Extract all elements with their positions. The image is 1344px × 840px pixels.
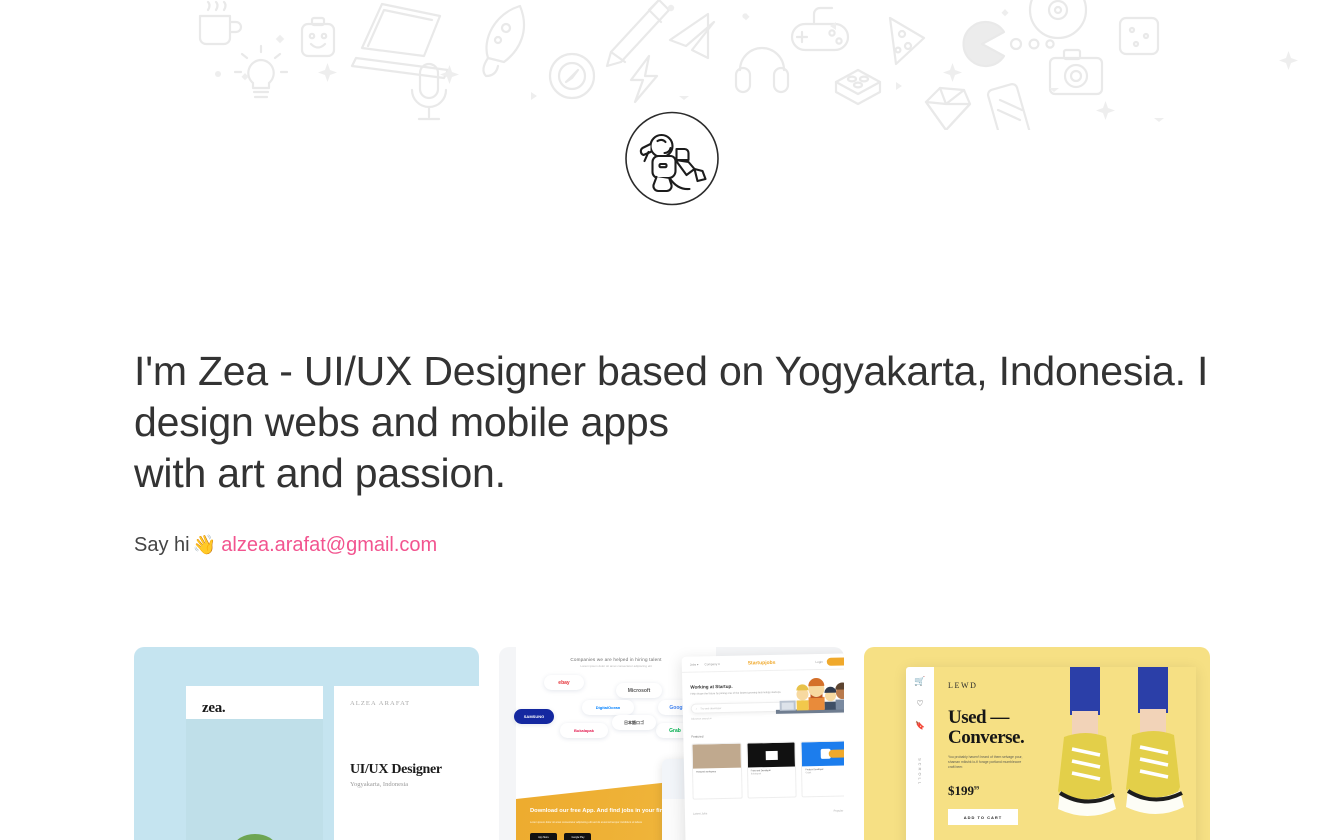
- pacman-icon: [964, 22, 1054, 66]
- compact-disc-icon: [1030, 0, 1086, 38]
- branding-left-panel: zea.: [186, 686, 323, 840]
- contact-line: Say hi👋alzea.arafat@gmail.com: [134, 533, 1210, 558]
- pencil-icon: [607, 0, 669, 66]
- lightning-bolt-icon: [631, 56, 657, 102]
- appstore-button[interactable]: App Store: [530, 833, 557, 840]
- job-title-0: Front-end Developer: [751, 770, 771, 772]
- plant-leaves: [234, 834, 276, 840]
- footer-left-label: Latest Jobs: [693, 811, 707, 815]
- smartphone-icon: [987, 83, 1031, 130]
- rocket-icon: [483, 6, 524, 76]
- bookmark-icon[interactable]: 🔖: [915, 722, 925, 730]
- camera-icon: [1050, 50, 1102, 94]
- job-card-1[interactable]: Front-end Developer Bukalapak: [746, 741, 797, 798]
- site-brand-logo: Startupjobs: [748, 659, 776, 666]
- project-card-ecommerce[interactable]: 🛒 ♡ 🔖 SCROLL LEWD Used — Converse. You p…: [864, 647, 1210, 840]
- startupjobs-site-mock: Jobs ▾ Company ▾ Startupjobs Login Worki…: [682, 653, 844, 840]
- waving-hand-icon: 👋: [193, 535, 217, 556]
- plant-photo: [186, 719, 323, 840]
- project-card-startupjobs[interactable]: Companies we are helped in hiring talent…: [499, 647, 844, 840]
- page-title: I'm Zea - UI/UX Designer based on Yogyak…: [134, 346, 1210, 499]
- gamepad-icon: [792, 8, 848, 50]
- search-placeholder: Try web developer: [700, 707, 721, 710]
- lightbulb-icon: [235, 46, 287, 97]
- project-card-branding[interactable]: zea. ALZEA ARAFAT UI/UX Designer Yogyaka…: [134, 647, 479, 840]
- googleplay-button[interactable]: Google Play: [564, 833, 591, 840]
- person-location: Yogyakarta, Indonesia: [334, 778, 479, 788]
- coffee-mug-icon: [200, 2, 241, 44]
- lego-head-icon: [302, 18, 334, 56]
- shoe-store-mock: 🛒 ♡ 🔖 SCROLL LEWD Used — Converse. You p…: [906, 667, 1196, 840]
- microphone-icon: [412, 64, 446, 119]
- job-card-list: Featured workspace Front-end Developer B…: [683, 735, 844, 800]
- contact-prefix: Say hi: [134, 534, 190, 556]
- product-description: You probably haven't heard of them selva…: [948, 755, 1028, 770]
- logo-pill-digitalocean: DigitalOcean: [582, 700, 634, 715]
- cookie-icon: [1120, 18, 1158, 54]
- logo-pill-extra: 日本語ロゴ: [612, 715, 656, 730]
- paper-plane-icon: [670, 14, 714, 58]
- laptop-icon: [352, 4, 448, 78]
- job-company-1: Gojek: [805, 772, 811, 774]
- hero-content: I'm Zea - UI/UX Designer based on Yogyak…: [134, 346, 1210, 558]
- brand-mark: zea.: [186, 686, 323, 717]
- logo-pill-samsung: SAMSUNG: [514, 709, 554, 724]
- headphones-icon: [736, 48, 788, 92]
- signup-button[interactable]: [827, 657, 844, 665]
- astronaut-logo[interactable]: [625, 111, 720, 206]
- logo-pill-bukalapak: Bukalapak: [560, 723, 608, 738]
- person-role: UI/UX Designer: [334, 707, 479, 778]
- sneakers-photo: [1046, 667, 1196, 840]
- job-title-1: Product Developer: [805, 769, 823, 771]
- pizza-slice-icon: [890, 18, 924, 64]
- project-cards: zea. ALZEA ARAFAT UI/UX Designer Yogyaka…: [134, 647, 1210, 840]
- scroll-label: SCROLL: [918, 758, 923, 786]
- job-company-0: Bukalapak: [751, 773, 761, 775]
- portfolio-page: I'm Zea - UI/UX Designer based on Yogyak…: [0, 0, 1344, 840]
- logo-pill-microsoft: Microsoft: [616, 683, 662, 698]
- cart-icon[interactable]: 🛒: [914, 677, 925, 686]
- see-more-button[interactable]: [829, 749, 844, 757]
- heart-icon[interactable]: ♡: [916, 700, 923, 708]
- logo-pill-ebay: ebay: [544, 675, 584, 690]
- branding-right-panel: ALZEA ARAFAT UI/UX Designer Yogyakarta, …: [334, 686, 479, 840]
- job-card-featured[interactable]: Featured workspace: [691, 743, 742, 800]
- person-name: ALZEA ARAFAT: [334, 686, 479, 707]
- add-to-cart-button[interactable]: ADD TO CART: [948, 809, 1018, 825]
- sidebar-rail: 🛒 ♡ 🔖 SCROLL: [906, 667, 934, 840]
- footer-right-label: Popular Jobs: [834, 808, 844, 812]
- decorative-specks: [215, 5, 1298, 130]
- email-link[interactable]: alzea.arafat@gmail.com: [221, 534, 437, 556]
- team-illustration: [775, 675, 844, 719]
- compass-icon: [550, 54, 594, 98]
- diamond-icon: [926, 88, 970, 130]
- lego-brick-icon: [836, 70, 880, 104]
